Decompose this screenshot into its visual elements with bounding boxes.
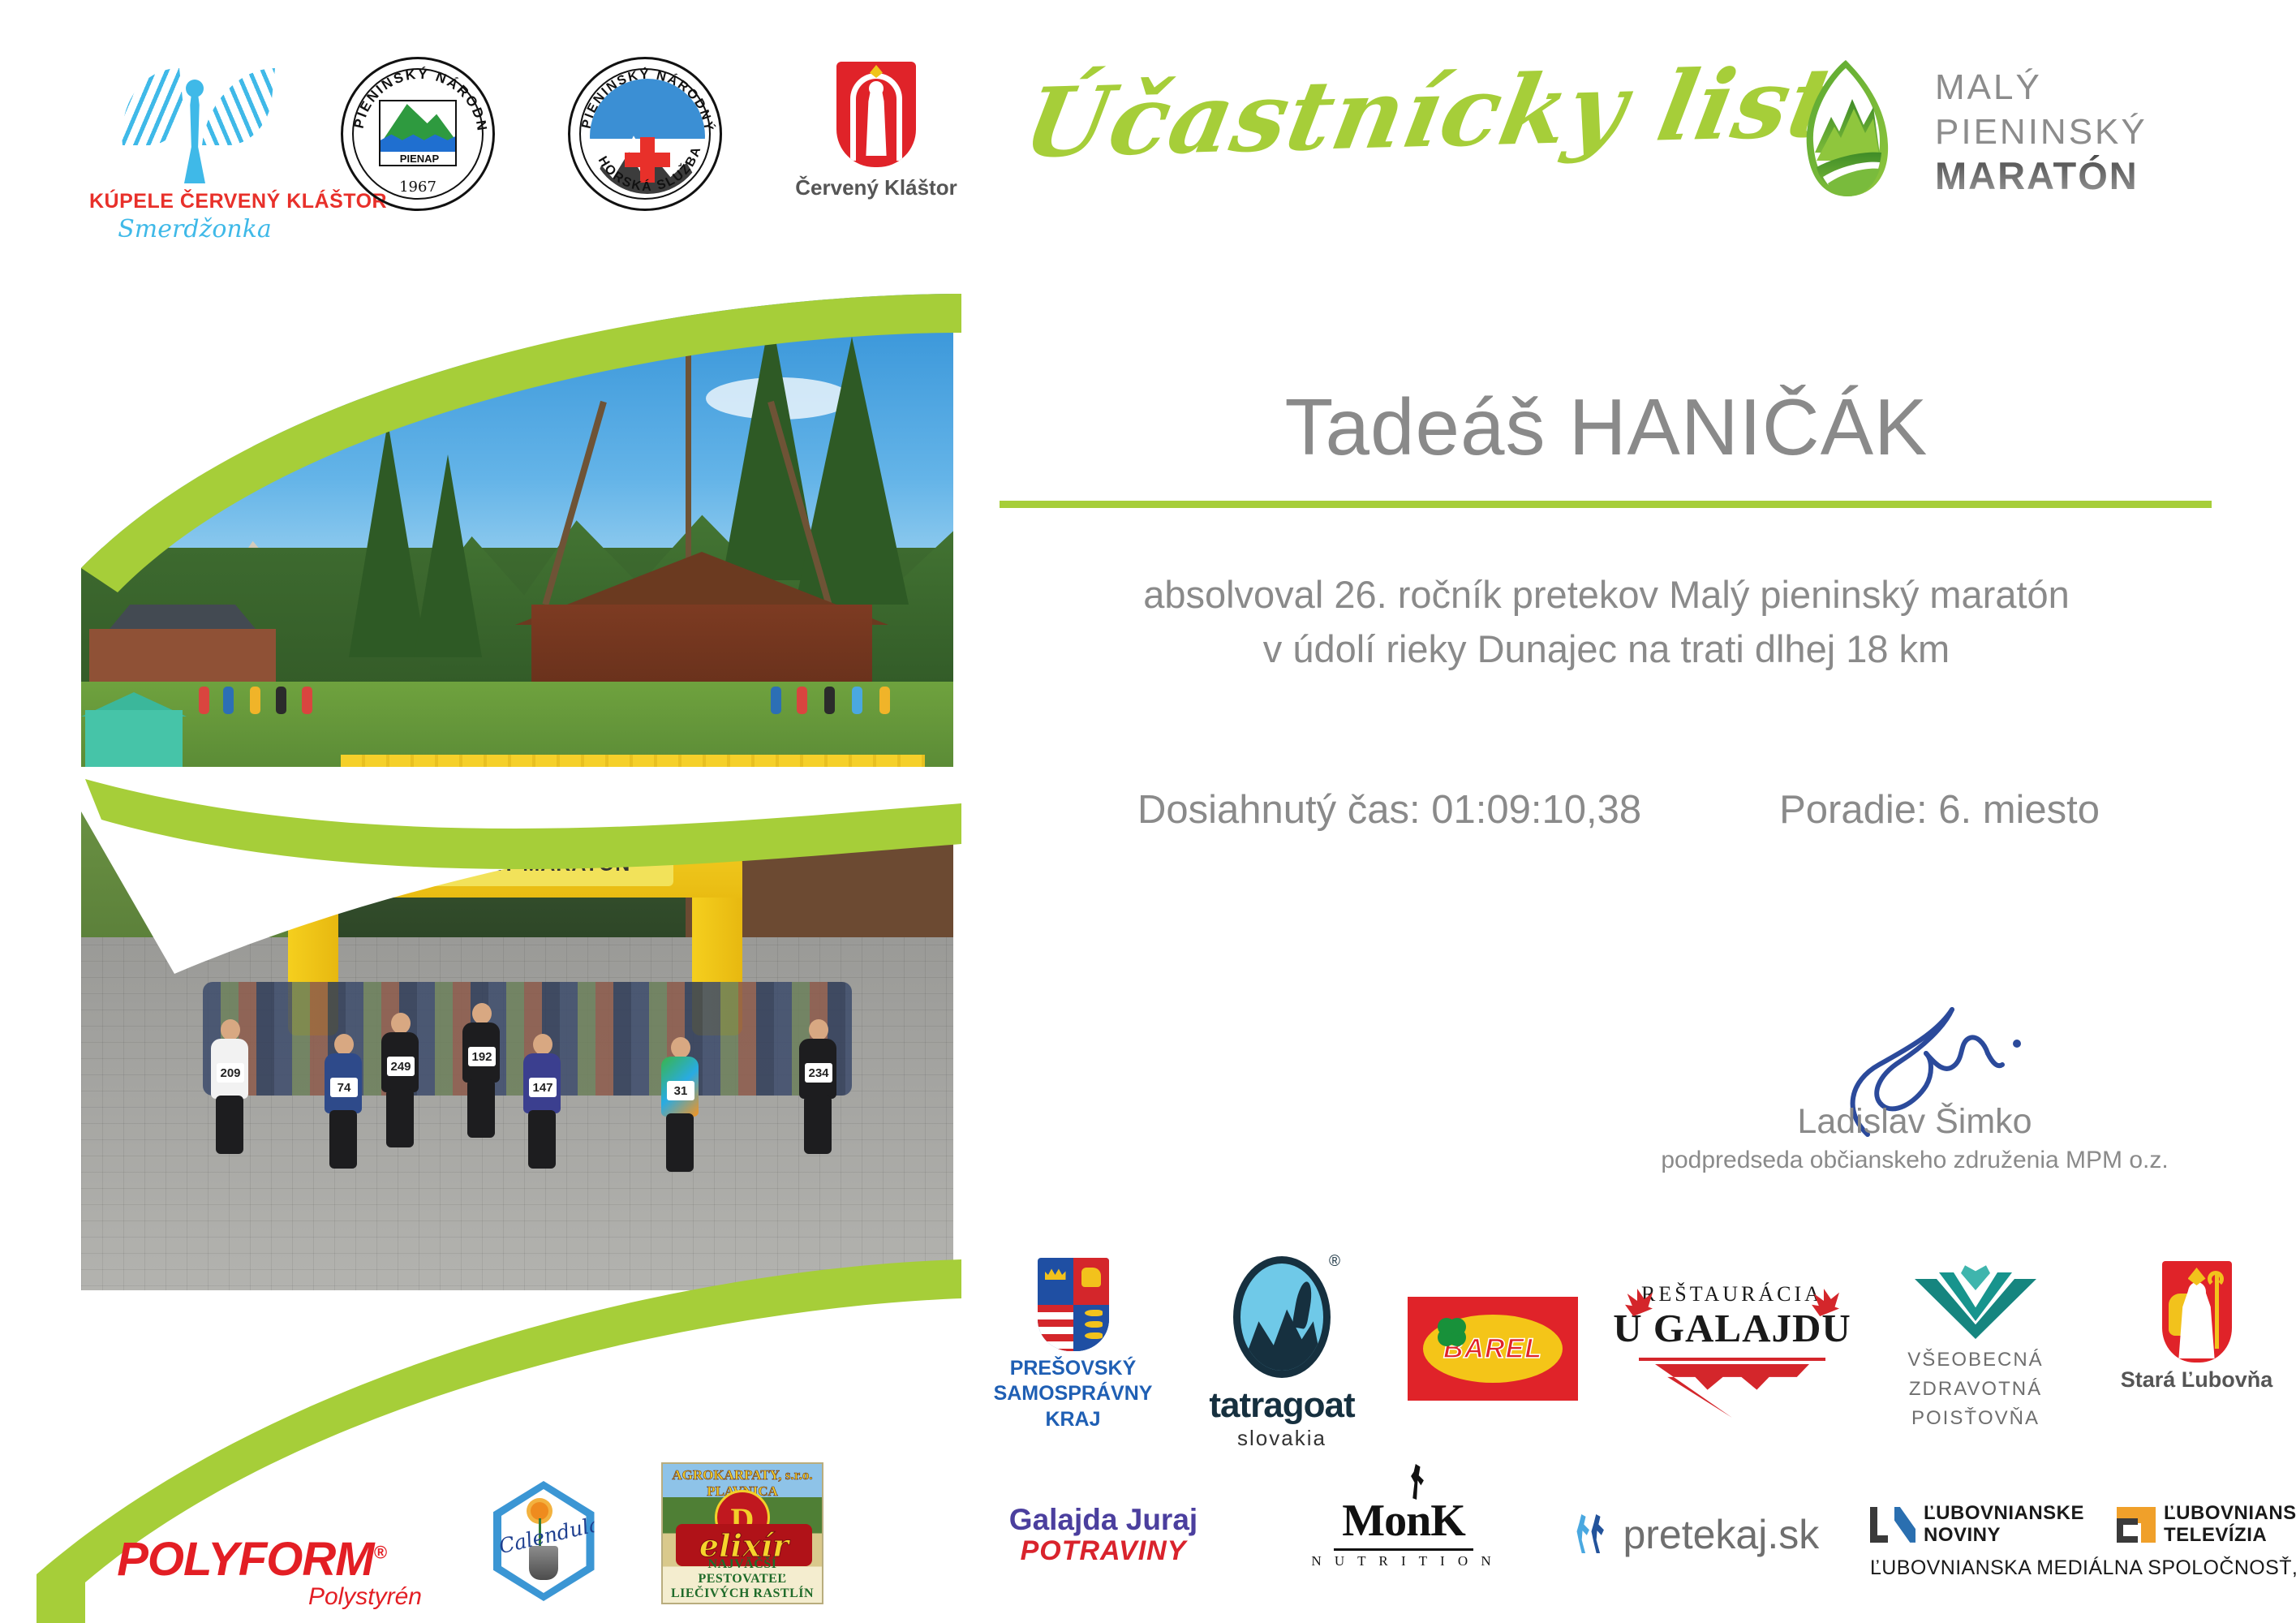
sponsor-name: tatragoat [1189,1385,1375,1426]
coat-of-arms-monk-icon [836,62,916,167]
signature-name: Ladislav Šimko [1639,1102,2191,1142]
sponsor-pretekaj-sk: pretekaj.sk [1574,1511,1866,1558]
sponsor-line-2: POTRAVINY [970,1535,1237,1567]
sponsor-line-3: KRAJ [986,1407,1160,1432]
bib-number: 249 [387,1057,415,1076]
sponsor-monk-nutrition: MonK N U T R I T I O N [1294,1495,1513,1569]
sponsor-line-2: ZDRAVOTNÁ [1878,1375,2073,1404]
arch-line1: MALÝ [478,825,553,853]
sponsor-line-1: ĽUBOVNIANSKE [1924,1503,2084,1525]
sponsor-line-1: ĽUBOVNIANSKA [2164,1503,2296,1525]
partner-logo-cerveny-klastor: Červený Kláštor [787,62,965,200]
clover-icon [1438,1318,1455,1336]
pienap-seal-icon: PIENAP 1967 PIENINSKÝ NÁRODNÝ PARK [341,57,495,211]
angel-water-icon [114,65,276,187]
sponsor-polyform: POLYFORM® Polystyrén [81,1532,422,1611]
registered-mark: ® [1329,1253,1340,1271]
partner-title: KÚPELE ČERVENÝ KLÁŠTOR [89,190,300,213]
sponsor-line-2: LIEČIVÝCH RASTLÍN [663,1586,822,1601]
sponsor-line-1: MonK [1294,1495,1513,1547]
sponsor-caption: ĽUBOVNIANSKA MEDIÁLNA SPOLOČNOSŤ, s.r.o. [1870,1556,2292,1580]
sponsor-line-2: TELEVÍZIA [2164,1525,2296,1547]
sponsor-u-galajdu: REŠTAURÁCIA U GALAJDU [1610,1282,1854,1418]
sponsor-line-2: NOVINY [1924,1525,2084,1547]
sponsor-galajda-juraj: Galajda Juraj POTRAVINY [970,1503,1237,1567]
ln-logo-icon [1870,1507,1915,1543]
sponsors-row-1: PREŠOVSKÝ SAMOSPRÁVNY KRAJ ® tatragoat s… [986,1250,2288,1453]
sponsor-subtitle: Polystyrén [81,1583,422,1611]
sponsor-suffix: .sk [1767,1512,1819,1557]
lt-logo-icon [2117,1507,2156,1543]
bib-number: 192 [468,1047,496,1066]
participant-description: absolvoval 26. ročník pretekov Malý pien… [998,568,2215,676]
sponsor-subtitle: slovakia [1189,1426,1375,1451]
partner-caption: Červený Kláštor [787,175,965,200]
sponsor-presovsky-samospravny-kraj: PREŠOVSKÝ SAMOSPRÁVNY KRAJ [986,1258,1160,1432]
sponsor-name: pretekaj [1623,1512,1767,1557]
mortar-flower-icon: Calendula [493,1481,595,1601]
sponsor-lubovnianske-noviny: ĽUBOVNIANSKE NOVINY [1870,1503,2084,1547]
bib-number: 209 [217,1063,244,1083]
bib-number: 234 [805,1063,832,1083]
coat-of-arms-icon [1038,1258,1109,1351]
sponsor-line-2: SAMOSPRÁVNY [986,1381,1160,1406]
horska-sluzba-seal-icon: PIENINSKÝ NÁRODNÝ PARK HORSKÁ SLUŽBA [568,57,722,211]
bib-number: 74 [330,1078,358,1097]
sponsor-name: BAREL [1443,1333,1542,1365]
sponsor-line-3: POISŤOVŇA [1878,1404,2073,1433]
partner-logo-kupele-cerveny-klastor: KÚPELE ČERVENÝ KLÁŠTOR Smerdžonka [89,65,300,243]
sponsor-lubovnianska-televizia: ĽUBOVNIANSKA TELEVÍZIA [2117,1503,2296,1547]
event-logo: MALÝ PIENINSKÝ MARATÓN [1789,57,2276,199]
signature-block: Ladislav Šimko podpredseda občianskeho z… [1639,1006,2191,1174]
top-partner-logos: KÚPELE ČERVENÝ KLÁŠTOR Smerdžonka PIENAP… [89,57,965,243]
sponsor-line-2: N U T R I T I O N [1294,1553,1513,1569]
result-time-label: Dosiahnutý čas: [1137,788,1421,832]
bishop-coat-of-arms-icon [2162,1261,2232,1363]
sponsor-tatragoat: ® tatragoat slovakia [1189,1256,1375,1451]
results-row: Dosiahnutý čas: 01:09:10,38 Poradie: 6. … [998,787,2239,833]
result-place: Poradie: 6. miesto [1779,787,2100,833]
sponsor-caption: Stará Ľubovňa [2105,1367,2288,1393]
partner-logo-pieninsky-narodny-park: PIENAP 1967 PIENINSKÝ NÁRODNÝ PARK [333,57,503,211]
sponsor-line-1: PREŠOVSKÝ [986,1356,1160,1381]
sponsor-calendula: Calendula [471,1481,617,1601]
bib-number: 31 [667,1081,694,1100]
sponsor-lubovnianska-medialna: ĽUBOVNIANSKE NOVINY ĽUBOVNIANSKA TELEVÍZ… [1870,1503,2292,1580]
heart-chevron-icon [1915,1264,2036,1339]
start-photo: MALÝ PIENINSKÝ MARATÓN 209 74 249 [81,795,953,1319]
signature-role: podpredseda občianskeho združenia MPM o.… [1639,1147,2191,1174]
partner-subtitle: Smerdžonka [89,215,300,243]
event-logo-line2: PIENINSKÝ [1935,110,2148,154]
sponsor-vseobecna-zdravotna-poistovna: VŠEOBECNÁ ZDRAVOTNÁ POISŤOVŇA [1878,1264,2073,1433]
sponsors-row-2: Galajda Juraj POTRAVINY MonK N U T R I T… [970,1485,2288,1619]
sponsors-bottom-left: POLYFORM® Polystyrén Calendula AGROKARPA… [81,1526,949,1623]
event-logo-line3: MARATÓN [1935,155,2148,197]
participant-name: Tadeáš HANIČÁK [998,381,2215,473]
result-place-label: Poradie: [1779,788,1928,832]
arch-line2: PIENINSKÝ MARATÓN [400,853,631,876]
partner-logo-horska-sluzba: PIENINSKÝ NÁRODNÝ PARK HORSKÁ SLUŽBA [560,57,730,211]
bib-number: 147 [529,1078,557,1097]
result-place-value: 6. miesto [1938,788,2100,832]
result-time: Dosiahnutý čas: 01:09:10,38 [1137,787,1641,833]
inflatable-start-arch: MALÝ PIENINSKÝ MARATÓN [288,800,742,987]
runners-icon [1574,1511,1619,1556]
page-title: Účastnícky list [1016,47,1787,179]
photo-collage: MALÝ PIENINSKÝ MARATÓN 209 74 249 [37,243,961,1623]
venue-photo [81,280,953,803]
certificate-page: KÚPELE ČERVENÝ KLÁŠTOR Smerdžonka PIENAP… [0,0,2296,1623]
sponsor-barel: BAREL [1400,1297,1586,1401]
svg-text:HORSKÁ SLUŽBA: HORSKÁ SLUŽBA [595,144,704,194]
goat-mountain-icon [1233,1256,1331,1378]
sponsor-line-1: NAJVÄČŠÍ PESTOVATEĽ [663,1557,822,1586]
result-time-value: 01:09:10,38 [1431,788,1641,832]
green-leaf-mountain-icon [1789,57,1923,199]
svg-text:PIENINSKÝ NÁRODNÝ PARK: PIENINSKÝ NÁRODNÝ PARK [343,59,490,133]
svg-text:PIENINSKÝ NÁRODNÝ PARK: PIENINSKÝ NÁRODNÝ PARK [570,59,717,138]
accent-divider [1000,501,2212,508]
sponsor-name: POLYFORM [117,1533,373,1586]
registered-mark: ® [374,1543,386,1563]
sponsor-line-1: VŠEOBECNÁ [1878,1345,2073,1375]
event-logo-line1: MALÝ [1935,65,2148,110]
sponsor-line-1: Galajda Juraj [970,1503,1237,1537]
sponsor-agrokarpaty-elixir: AGROKARPATY, s.r.o. PLAVNICA elixír NAJV… [649,1462,836,1604]
description-line-1: absolvoval 26. ročník pretekov Malý pien… [998,568,2215,622]
description-line-2: v údolí rieky Dunajec na trati dlhej 18 … [998,622,2215,677]
sponsor-stara-lubovna: Stará Ľubovňa [2105,1261,2288,1393]
